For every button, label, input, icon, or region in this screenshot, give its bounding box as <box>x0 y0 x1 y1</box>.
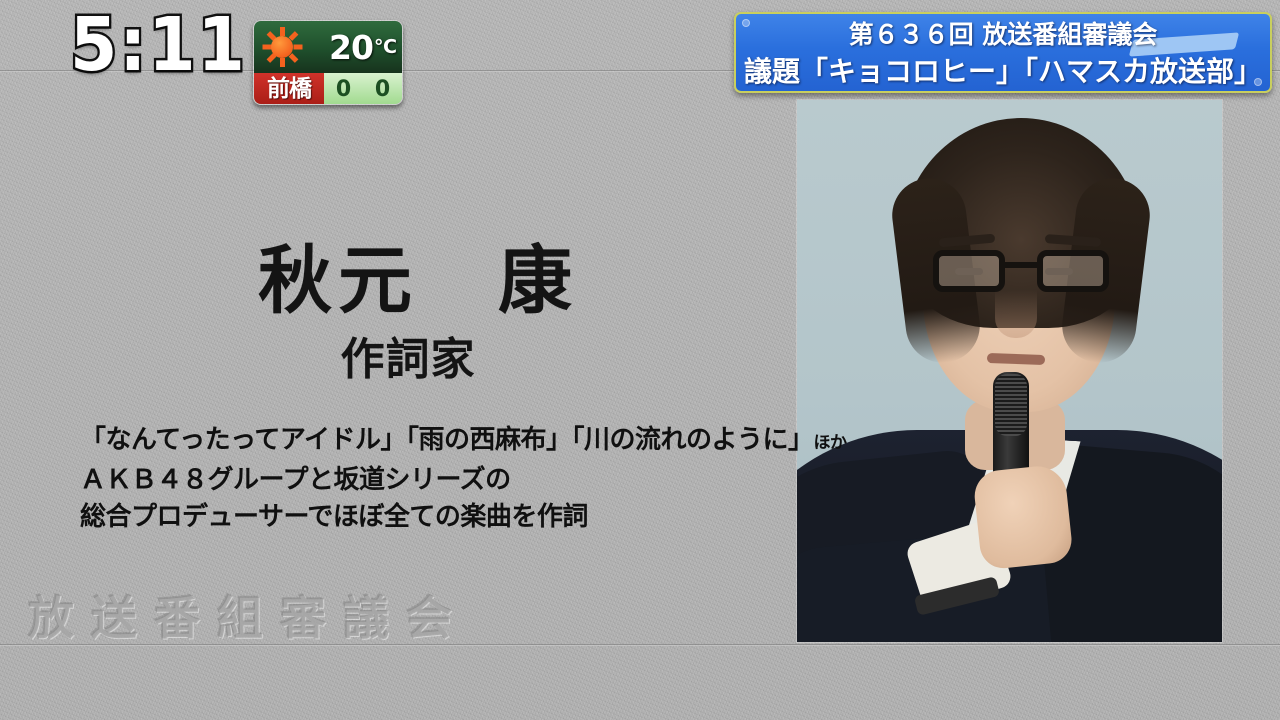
weather-temperature: 20℃ <box>329 23 396 72</box>
photo-glasses <box>933 250 1109 294</box>
description-line-3: 総合プロデューサーでほぼ全ての楽曲を作詞 <box>80 499 847 536</box>
weather-pop-values: 0 0 <box>324 73 402 105</box>
description-line-1-suffix: ほか <box>814 433 847 453</box>
sun-icon <box>262 27 302 67</box>
profile-description: 「なんてったってアイドル」「雨の西麻布」「川の流れのように」ほか ＡＫＢ４８グル… <box>80 422 847 536</box>
pop-value-1: 0 <box>324 73 363 105</box>
weather-bottom-panel: 前橋 0 0 <box>254 73 402 105</box>
temperature-unit: ℃ <box>374 36 396 58</box>
person-name: 秋元 康 <box>258 244 558 319</box>
temperature-value: 20 <box>329 28 373 67</box>
banner-title-line: 第６３６回 放送番組審議会 <box>736 16 1270 53</box>
description-line-2: ＡＫＢ４８グループと坂道シリーズの <box>80 462 847 499</box>
description-line-3-main: 総合プロデューサーでほぼ全ての楽曲を作詞 <box>80 502 588 532</box>
guest-photo <box>797 100 1222 642</box>
photo-hand <box>972 463 1074 570</box>
weather-widget: 20℃ 前橋 0 0 <box>253 20 403 105</box>
photo-mouth <box>987 353 1045 365</box>
description-line-2-main: ＡＫＢ４８グループと坂道シリーズの <box>80 465 511 495</box>
topic-banner: 第６３６回 放送番組審議会 議題「キョコロヒー」「ハマスカ放送部」 <box>734 12 1272 93</box>
banner-subject-line: 議題「キョコロヒー」「ハマスカ放送部」 <box>736 53 1270 91</box>
description-line-1: 「なんてったってアイドル」「雨の西麻布」「川の流れのように」ほか <box>80 422 847 462</box>
weather-city-label: 前橋 <box>254 73 324 105</box>
weather-top-panel: 20℃ <box>254 21 402 73</box>
clock-time: 5:11 <box>70 8 247 82</box>
broadcast-screen: 5:11 20℃ 前橋 0 0 第６３６回 放送番組審議会 議題「キョコロヒー <box>0 0 1280 720</box>
person-occupation: 作詞家 <box>258 323 558 387</box>
program-watermark: 放送番組審議会 <box>28 582 469 648</box>
description-line-1-main: 「なんてったってアイドル」「雨の西麻布」「川の流れのように」 <box>80 425 814 455</box>
background-rule-bottom <box>0 644 1280 646</box>
profile-name-block: 秋元 康 作詞家 <box>258 244 558 387</box>
pop-value-2: 0 <box>363 73 402 105</box>
photo-nose <box>995 290 1037 338</box>
